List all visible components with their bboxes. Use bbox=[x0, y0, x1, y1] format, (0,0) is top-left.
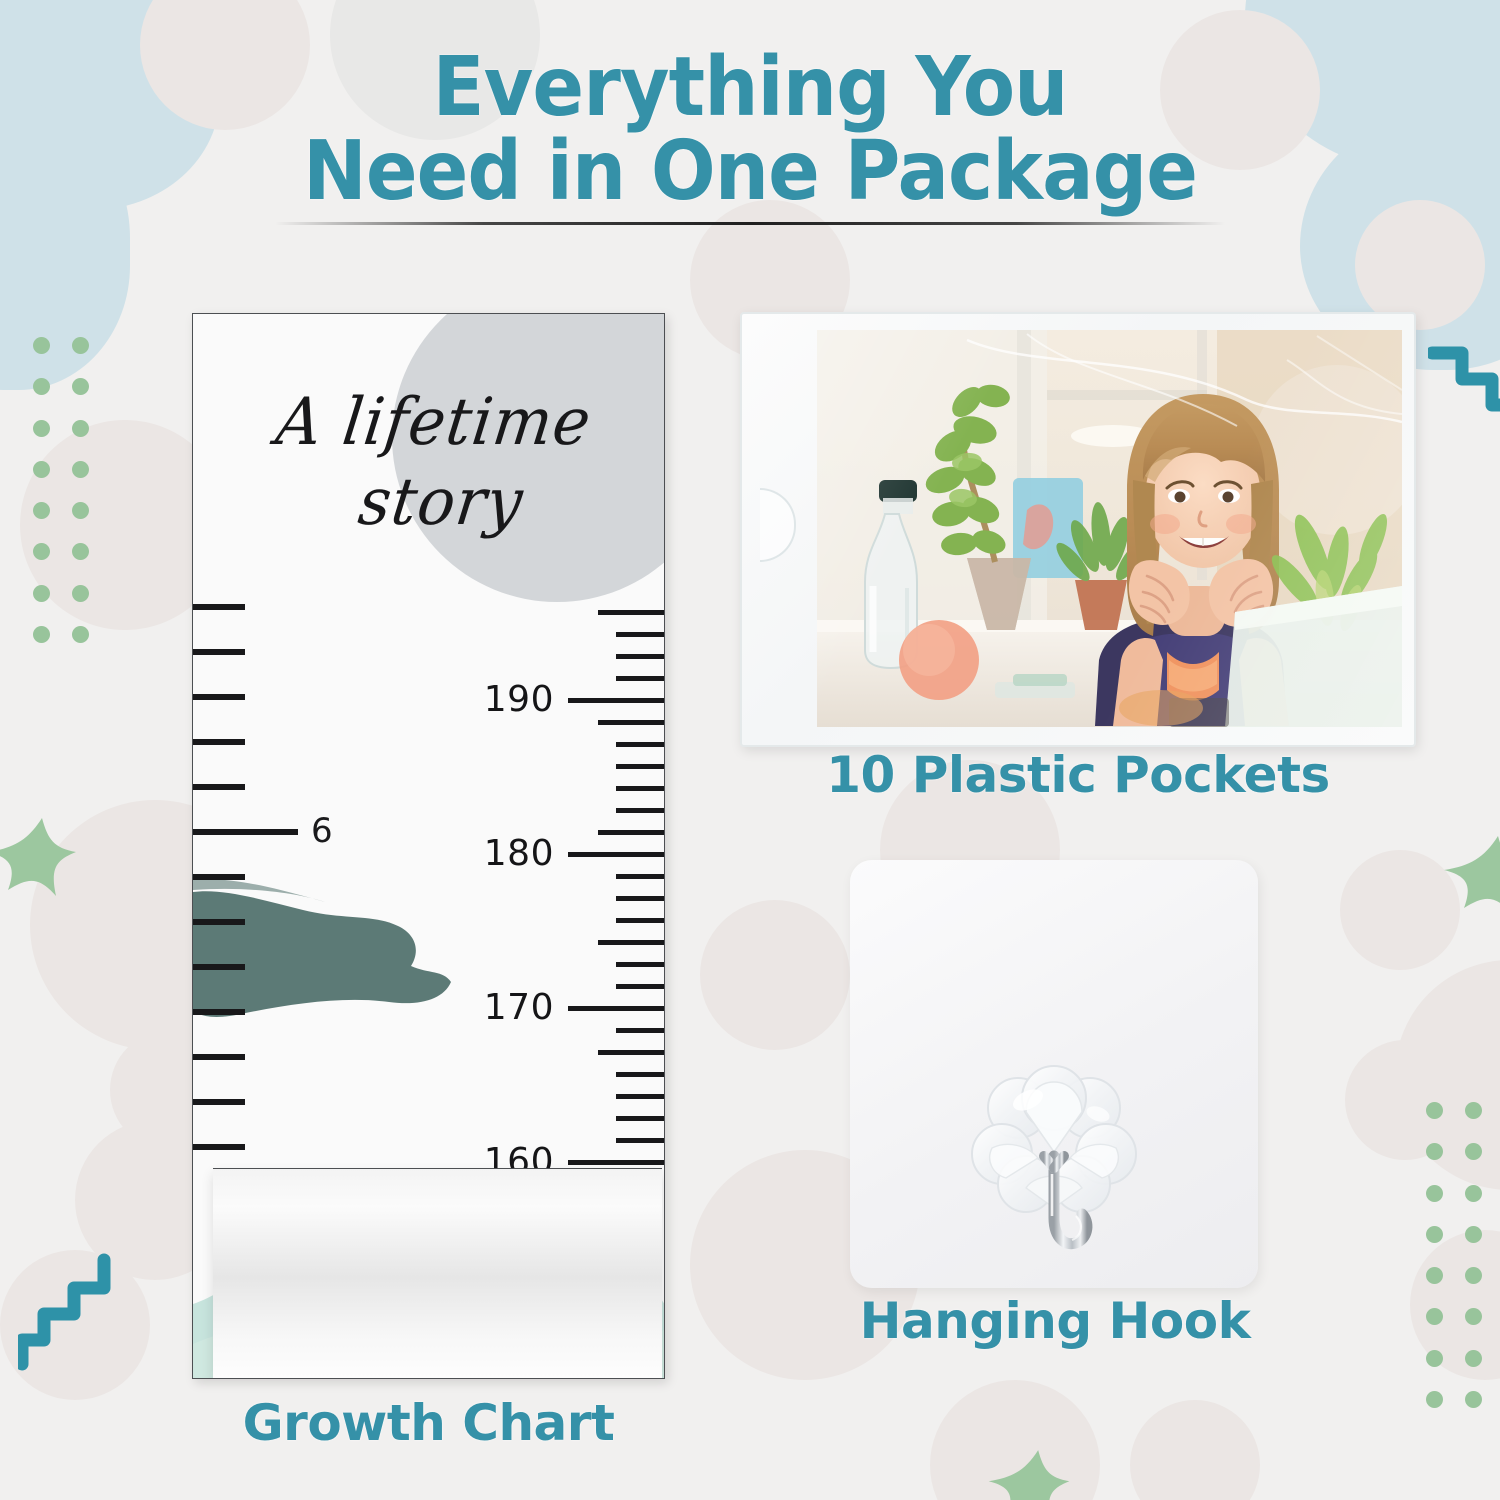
script-line-2: story bbox=[243, 462, 639, 541]
ruler-label-180: 180 bbox=[484, 833, 554, 874]
ruler-label-170: 170 bbox=[484, 987, 554, 1028]
ruler-label-190: 190 bbox=[484, 679, 554, 720]
page-title-line-2: Need in One Package bbox=[53, 130, 1448, 214]
title-divider bbox=[275, 222, 1225, 225]
growth-chart-script-title: A lifetime story bbox=[209, 382, 648, 541]
product-hanging-hook[interactable] bbox=[850, 860, 1258, 1288]
page-title-line-1: Everything You bbox=[53, 46, 1448, 130]
product-plastic-pockets[interactable] bbox=[740, 312, 1416, 747]
growth-chart-rolled-edge bbox=[213, 1168, 662, 1378]
hanging-hook-icon bbox=[966, 1056, 1144, 1266]
caption-hanging-hook: Hanging Hook bbox=[820, 1292, 1290, 1350]
page-title: Everything You Need in One Package bbox=[0, 46, 1500, 213]
growth-chart-card: 190 180 170 160 6 bbox=[192, 313, 665, 1379]
script-line-1: A lifetime bbox=[272, 383, 595, 460]
product-growth-chart[interactable]: 190 180 170 160 6 bbox=[192, 313, 665, 1379]
caption-growth-chart: Growth Chart bbox=[192, 1394, 665, 1452]
ruler-feet-label-6: 6 bbox=[311, 811, 333, 851]
pocket-photo bbox=[817, 330, 1402, 727]
caption-plastic-pockets: 10 Plastic Pockets bbox=[740, 746, 1416, 804]
